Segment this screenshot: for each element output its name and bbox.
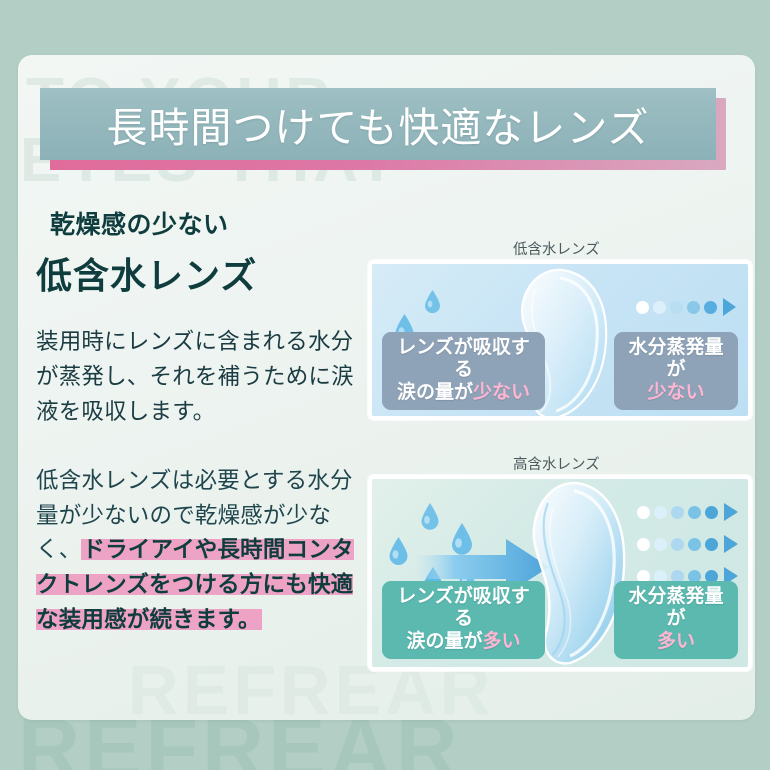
caption-line-1: レンズが吸収する (389, 586, 538, 631)
caption-lens-absorption-low: レンズが吸収する 涙の量が少ない (382, 332, 545, 410)
evaporation-dot (705, 506, 718, 519)
caption-line-2-text: 涙の量が (406, 631, 482, 652)
caption-line-1: 水分蒸発量が (621, 337, 731, 382)
evaporation-dot (688, 538, 701, 551)
evaporation-dot (637, 506, 650, 519)
subtitle-large: 低含水レンズ (36, 247, 356, 299)
evaporation-dot-row (637, 503, 738, 521)
panel-label-high-water: 高含水レンズ (513, 453, 600, 474)
evaporation-dot-row (636, 298, 736, 316)
caption-line-2-highlight: 多い (621, 631, 731, 653)
left-text-column: 乾燥感の少ない 低含水レンズ 装用時にレンズに含まれる水分が蒸発し、それを補うた… (36, 205, 356, 638)
caption-line-2: 涙の量が多い (389, 631, 538, 653)
subtitle-small: 乾燥感の少ない (50, 205, 356, 241)
evaporation-arrow-icon (724, 535, 738, 553)
paragraph-2: 低含水レンズは必要とする水分量が少ないので乾燥感が少なく、ドライアイや長時間コン… (36, 464, 356, 638)
caption-line-2-highlight: 多い (483, 631, 521, 652)
caption-line-2: 涙の量が少ない (389, 382, 538, 404)
evaporation-dot (687, 301, 700, 314)
caption-line-1: 水分蒸発量が (621, 586, 731, 631)
title-banner: 長時間つけても快適なレンズ (40, 88, 716, 160)
panel-label-low-water: 低含水レンズ (513, 238, 600, 259)
water-droplet (420, 503, 440, 530)
evaporation-dot-row (637, 535, 738, 553)
outer-frame: REFREAR TO YOUR EYES THAT REFREAR 長時間つけて… (0, 0, 770, 770)
content-card: TO YOUR EYES THAT REFREAR 長時間つけても快適なレンズ … (18, 55, 755, 720)
evaporation-dot (654, 506, 667, 519)
evaporation-dot (704, 301, 717, 314)
caption-line-2-highlight: 少ない (621, 382, 731, 404)
diagram-high-water-lens: レンズが吸収する 涙の量が多い 水分蒸発量が 多い (368, 475, 752, 671)
water-droplet (388, 537, 409, 565)
caption-lens-absorption-high: レンズが吸収する 涙の量が多い (382, 581, 545, 659)
evaporation-dot (705, 538, 718, 551)
water-droplet (424, 290, 441, 313)
caption-line-2-highlight: 少ない (473, 382, 530, 403)
caption-evaporation-high: 水分蒸発量が 多い (614, 581, 738, 659)
evaporation-arrow-icon (724, 503, 738, 521)
evaporation-arrow-icon (723, 298, 736, 316)
caption-evaporation-low: 水分蒸発量が 少ない (614, 332, 738, 410)
paragraph-1: 装用時にレンズに含まれる水分が蒸発し、それを補うために涙液を吸収します。 (36, 325, 356, 430)
evaporation-dot (688, 506, 701, 519)
evaporation-dot (653, 301, 666, 314)
evaporation-dot (671, 538, 684, 551)
caption-line-2-text: 涙の量が (397, 382, 473, 403)
evaporation-dot (671, 506, 684, 519)
evaporation-dot (637, 538, 650, 551)
evaporation-dot (654, 538, 667, 551)
diagram-low-water-lens: レンズが吸収する 涙の量が少ない 水分蒸発量が 少ない (368, 260, 752, 420)
evaporation-dot (670, 301, 683, 314)
page-title: 長時間つけても快適なレンズ (106, 94, 649, 154)
title-bar: 長時間つけても快適なレンズ (40, 88, 716, 160)
caption-line-1: レンズが吸収する (389, 337, 538, 382)
paragraph-2-highlighted: ドライアイや長時間コンタクトレンズをつける方にも快適な装用感が続きます。 (36, 537, 354, 632)
evaporation-dot (636, 301, 649, 314)
